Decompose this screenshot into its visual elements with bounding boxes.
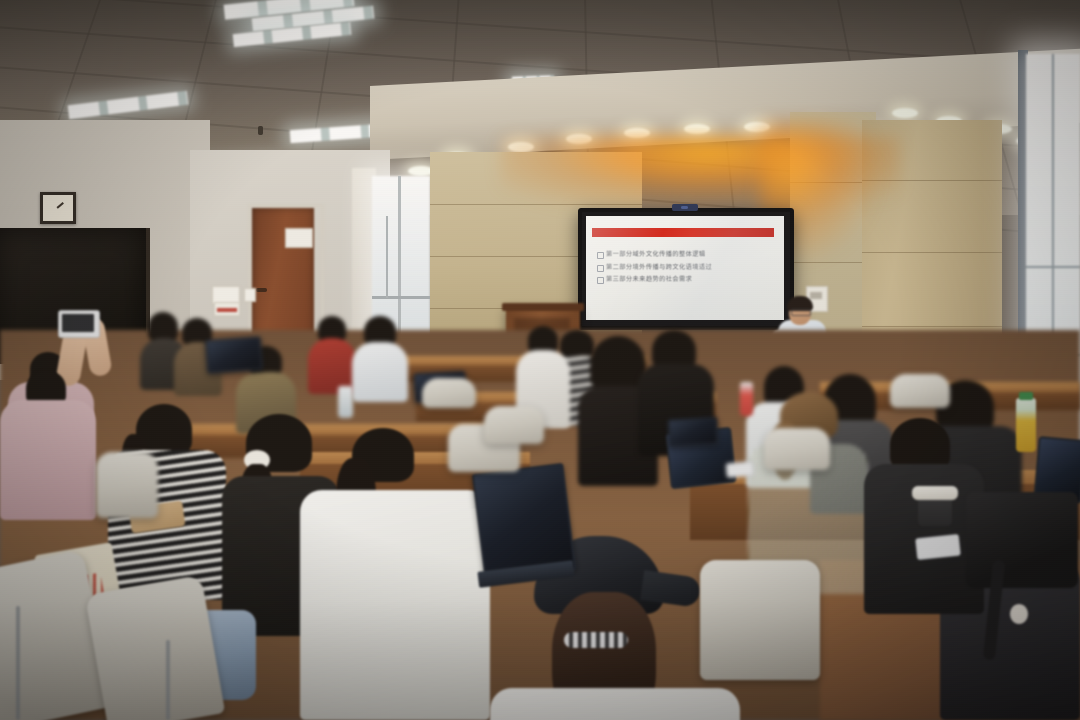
smartphone-mid[interactable] (725, 461, 754, 478)
bottle-cap-icon (1019, 392, 1033, 400)
wall-warning-sign (214, 302, 240, 316)
door-sign (285, 228, 313, 248)
podium-top (502, 303, 584, 311)
chair-row-left (96, 452, 158, 518)
display-camera-lens-icon (681, 206, 688, 209)
beverage-bottle-mid[interactable] (740, 382, 753, 416)
camera-phone-screen (62, 314, 94, 332)
coffee-cup-lid (912, 486, 958, 500)
window-post (386, 216, 388, 298)
tumbler-left[interactable] (338, 386, 353, 418)
chair-far-right (890, 374, 950, 408)
wall-clock-icon (40, 192, 76, 224)
wall-control-box[interactable] (806, 286, 828, 312)
slide-screen-glare (586, 216, 784, 320)
window-rail (372, 296, 430, 299)
wall-control-box-panel (810, 292, 822, 299)
laptop-mid-right[interactable] (667, 417, 718, 448)
handbag-right[interactable] (966, 492, 1078, 588)
chair-row-mid-2 (484, 406, 544, 444)
chair-row-back (422, 378, 476, 408)
smartphone-on-desk[interactable] (915, 534, 961, 560)
foreground-depth-blur (0, 600, 1080, 720)
wall-small-sign (244, 288, 256, 302)
beverage-bottle-right[interactable] (1016, 398, 1036, 452)
door-handle-icon[interactable] (256, 288, 267, 292)
laptop-back-left[interactable] (205, 336, 263, 374)
window-mullion (398, 176, 401, 354)
chair-row-right-1 (764, 428, 830, 470)
photo-scene: 第一部分域外文化传播的整体逻辑 第二部分境外传播与跨文化语境适过 第三部分未来趋… (0, 0, 1080, 720)
